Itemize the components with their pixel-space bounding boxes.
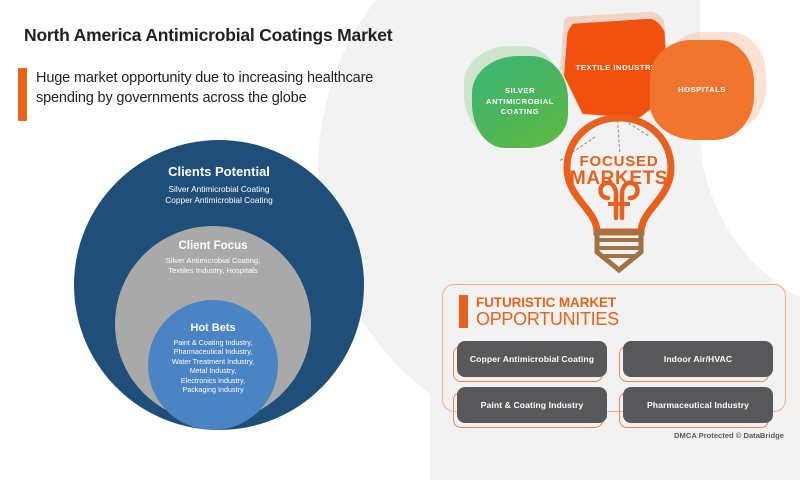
ring-outer-label: Clients Potential [74, 140, 364, 179]
chip-slot: Indoor Air/HVAC [623, 341, 773, 377]
focused-markets-diagram: SILVER ANTIMICROBIAL COATING TEXTILE IND… [452, 8, 792, 276]
page-subtitle: Huge market opportunity due to increasin… [36, 68, 418, 121]
subtitle-block: Huge market opportunity due to increasin… [18, 68, 418, 121]
opportunity-chip-list: Copper Antimicrobial Coating Indoor Air/… [457, 341, 773, 423]
bulb-line2: MARKETS [570, 168, 668, 189]
ring-inner-items: Paint & Coating Industry,Pharmaceutical … [148, 338, 278, 394]
accent-bar [18, 68, 27, 121]
ring-inner-label: Hot Bets [148, 300, 278, 334]
pod-silver-label: SILVER ANTIMICROBIAL COATING [476, 86, 564, 118]
pod-hospitals-label: HOSPITALS [678, 85, 726, 96]
panel-heading-line1: FUTURISTIC MARKET [476, 295, 619, 310]
clients-potential-diagram: Clients Potential Silver Antimicrobial C… [74, 140, 364, 440]
ring-mid-label: Client Focus [115, 226, 311, 252]
page-title: North America Antimicrobial Coatings Mar… [24, 24, 414, 47]
ring-mid-items: Silver Antimicrobial Coating,Textiles In… [115, 256, 311, 276]
chip-slot: Paint & Coating Industry [457, 387, 607, 423]
opportunity-chip[interactable]: Copper Antimicrobial Coating [457, 341, 607, 377]
panel-heading-line2: OPPORTUNITIES [476, 310, 619, 329]
panel-accent-bar [459, 295, 468, 328]
ring-hot-bets: Hot Bets Paint & Coating Industry,Pharma… [148, 300, 278, 430]
pod-textile-label: TEXTILE INDUSTRY [576, 63, 657, 74]
opportunity-chip[interactable]: Pharmaceutical Industry [623, 387, 773, 423]
chip-slot: Copper Antimicrobial Coating [457, 341, 607, 377]
footer-copyright: DMCA Protected © DataBridge [674, 431, 784, 440]
opportunity-chip[interactable]: Indoor Air/HVAC [623, 341, 773, 377]
ring-outer-items: Silver Antimicrobial CoatingCopper Antim… [74, 184, 364, 206]
pod-silver-antimicrobial-coating[interactable]: SILVER ANTIMICROBIAL COATING [472, 56, 568, 148]
panel-heading: FUTURISTIC MARKET OPPORTUNITIES [459, 295, 619, 329]
chip-slot: Pharmaceutical Industry [623, 387, 773, 423]
lightbulb-icon: FOCUSED MARKETS [556, 112, 682, 276]
futuristic-opportunities-panel: FUTURISTIC MARKET OPPORTUNITIES Copper A… [442, 284, 786, 412]
opportunity-chip[interactable]: Paint & Coating Industry [457, 387, 607, 423]
infographic-canvas: North America Antimicrobial Coatings Mar… [0, 0, 800, 450]
